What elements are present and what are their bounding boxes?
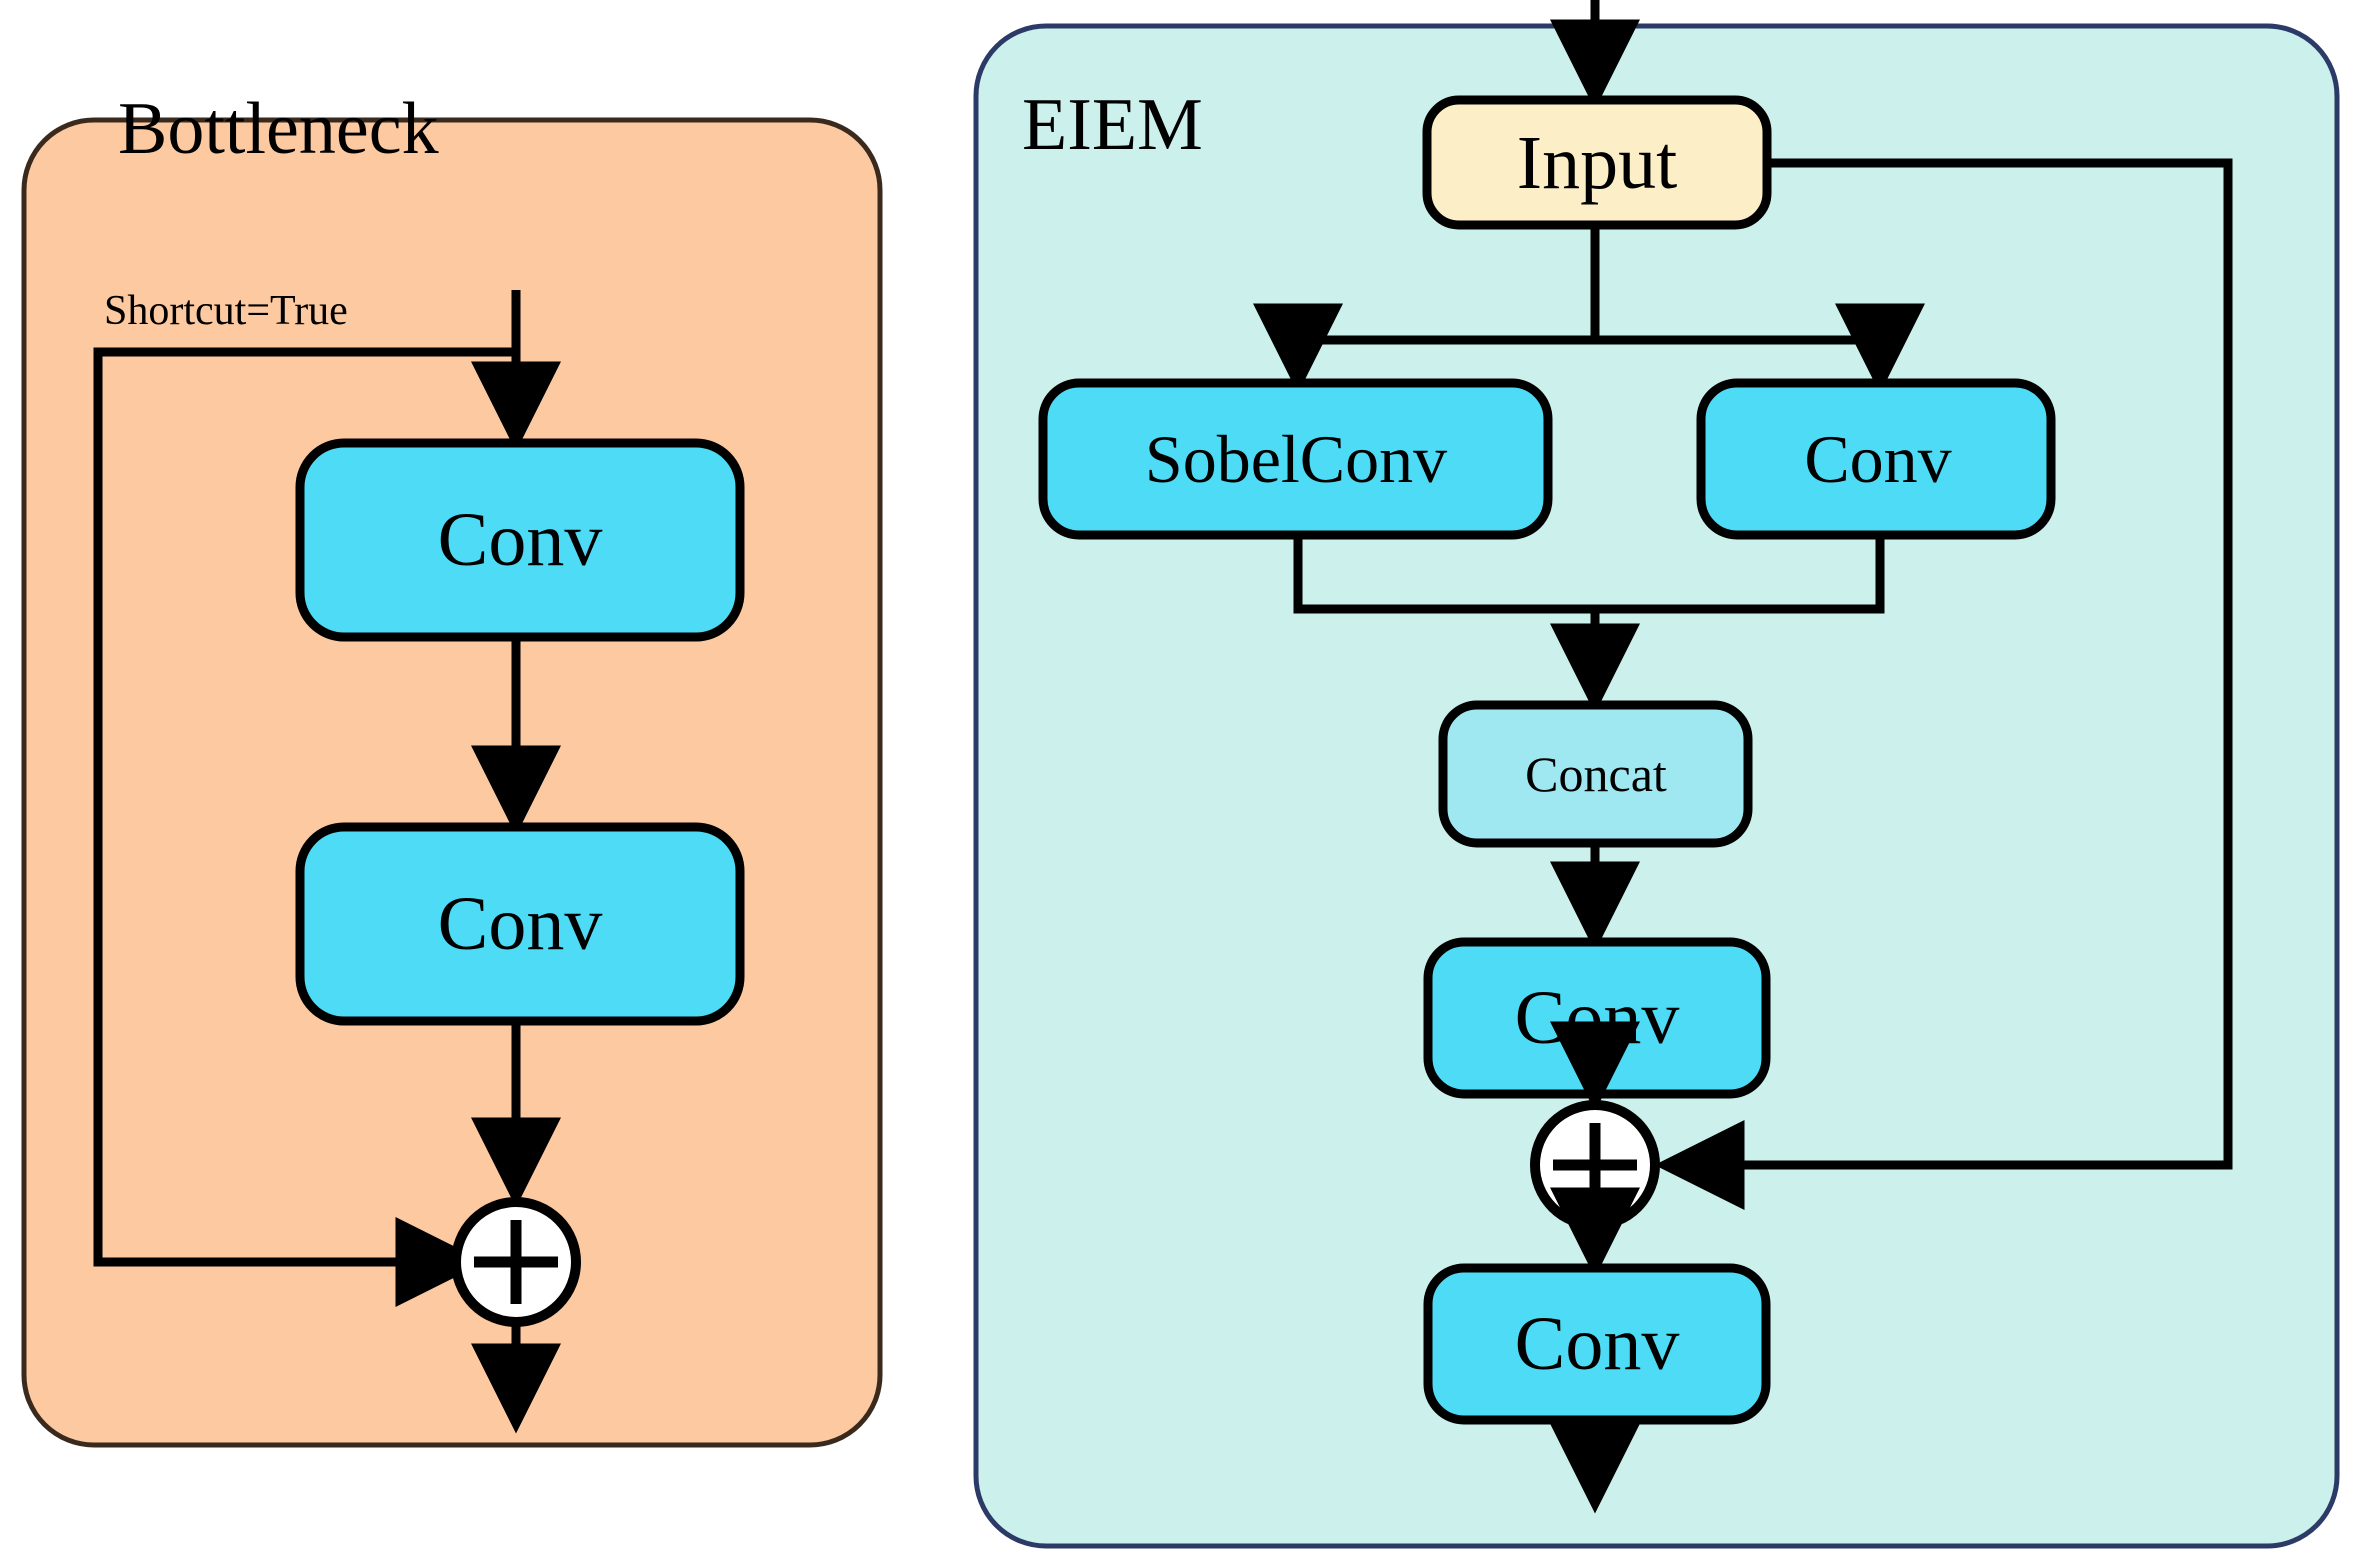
diagram-svg <box>0 0 2357 1563</box>
node-label-eiem-input: Input <box>1517 125 1677 201</box>
node-label-bottleneck-conv-1: Conv <box>438 502 603 578</box>
node-label-bottleneck-conv-2: Conv <box>438 886 603 962</box>
panel-title-eiem: EIEM <box>1022 88 1203 162</box>
node-label-eiem-concat: Concat <box>1525 749 1667 799</box>
node-label-eiem-conv-mid: Conv <box>1515 980 1680 1056</box>
node-label-eiem-conv-right: Conv <box>1804 425 1951 493</box>
panel-title-bottleneck: Bottleneck <box>118 92 439 166</box>
figure-canvas: Bottleneck Shortcut=True Conv Conv EIEM … <box>0 0 2357 1563</box>
node-label-eiem-conv-out: Conv <box>1515 1306 1680 1382</box>
node-label-eiem-sobelconv: SobelConv <box>1145 425 1447 493</box>
edge-label-shortcut: Shortcut=True <box>104 290 348 332</box>
